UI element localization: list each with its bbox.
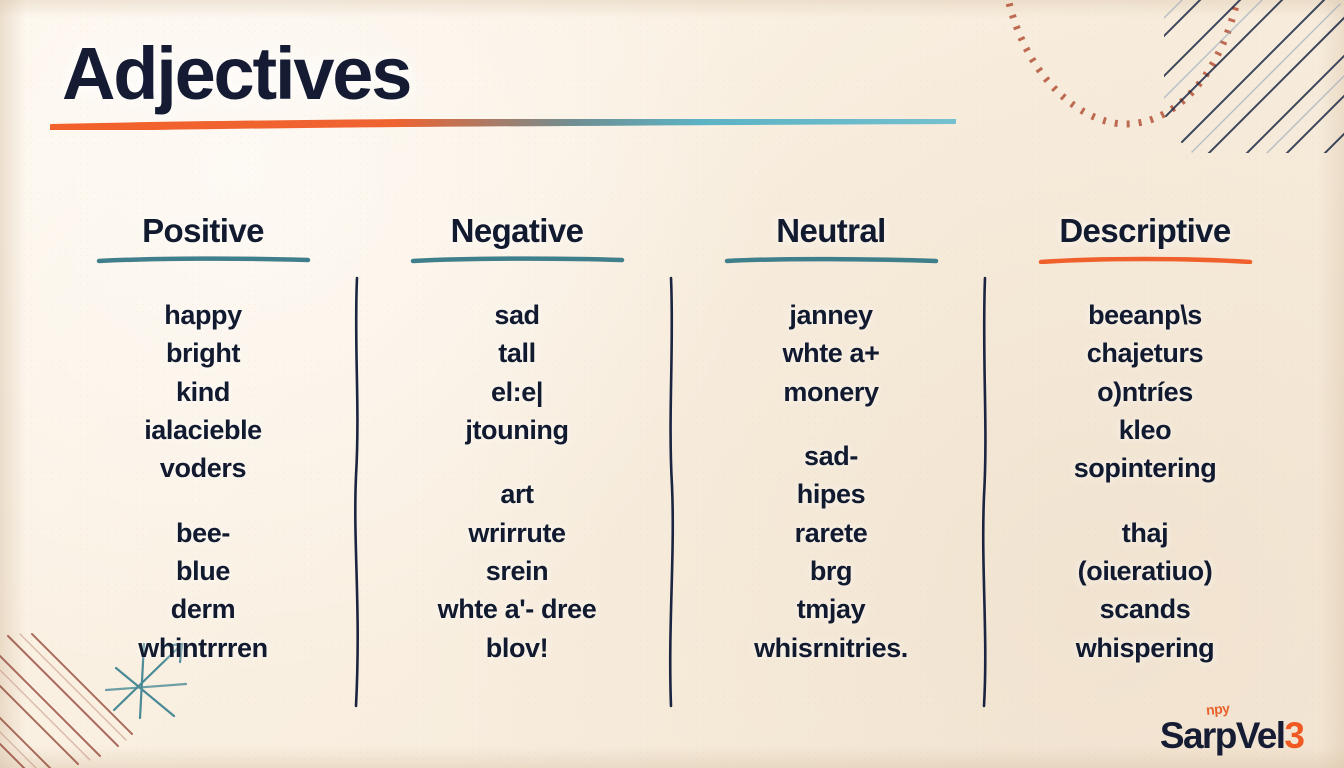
word-item: tmjay (797, 590, 866, 628)
column-descriptive: Descriptive beeanp\s chajeturs o)ntríes … (988, 212, 1302, 712)
word-item: bee- (176, 514, 230, 552)
column-underline-positive (96, 256, 311, 264)
column-header-neutral: Neutral (776, 212, 886, 250)
word-columns: Positive happy bright kind ialacieble vo… (46, 212, 1302, 712)
word-item: srein (486, 552, 549, 590)
word-item: thaj (1122, 514, 1168, 552)
logo-wordmark: SarpVel npy (1160, 717, 1285, 754)
word-item: whisrnitries. (754, 629, 908, 667)
word-item: tall (498, 334, 535, 372)
word-item: kleo (1119, 411, 1171, 449)
word-item: blue (176, 552, 230, 590)
column-underline-negative (410, 256, 625, 264)
word-item: scands (1100, 590, 1191, 628)
edge-shade-right (1318, 0, 1344, 768)
word-item: rarete (795, 514, 868, 552)
word-item: whte a'- dree (438, 590, 597, 628)
word-item: o)ntríes (1097, 373, 1193, 411)
word-list-positive: happy bright kind ialacieble voders bee-… (46, 296, 360, 667)
logo-digit: 3 (1284, 717, 1304, 754)
column-neutral: Neutral janney whte a+ monery sad- hipes… (674, 212, 988, 712)
title-underline (50, 119, 956, 130)
word-item: chajeturs (1087, 334, 1203, 372)
column-header-descriptive: Descriptive (1059, 212, 1230, 250)
word-list-neutral: janney whte a+ monery sad- hipes rarete … (674, 296, 988, 667)
word-item: whispering (1076, 629, 1215, 667)
word-item: el:e| (491, 373, 543, 411)
word-item: whte a+ (783, 334, 880, 372)
edge-shade-top (0, 0, 1344, 18)
word-item: (oiɩeratiuo) (1078, 552, 1213, 590)
column-positive: Positive happy bright kind ialacieble vo… (46, 212, 360, 712)
dashed-arc-decoration (994, 0, 1254, 142)
edge-shade-bottom (0, 746, 1344, 768)
word-item: janney (789, 296, 872, 334)
diagonal-hatch-decoration-topright (1164, 0, 1344, 153)
column-underline-descriptive (1038, 256, 1253, 264)
logo-superscript: npy (1205, 701, 1230, 717)
word-item: sad- (804, 437, 858, 475)
word-item: happy (164, 296, 242, 334)
word-item: blov! (486, 629, 549, 667)
word-item: beeanp\s (1088, 296, 1202, 334)
word-item: monery (783, 373, 878, 411)
column-header-negative: Negative (451, 212, 584, 250)
word-item: hipes (797, 475, 866, 513)
word-list-negative: sad tall el:e| jtouning art wrirrute sre… (360, 296, 674, 667)
word-item: art (500, 475, 533, 513)
word-item: whintrrren (138, 629, 268, 667)
word-item: sad (494, 296, 539, 334)
edge-shade-left (0, 0, 26, 768)
word-item: voders (160, 449, 246, 487)
logo-wordmark-text: SarpVel (1160, 715, 1285, 756)
word-item: ialacieble (144, 411, 262, 449)
brand-logo: SarpVel npy 3 (1160, 702, 1304, 754)
word-item: jtouning (465, 411, 568, 449)
page-title: Adjectives (62, 36, 982, 111)
word-item: brg (810, 552, 852, 590)
column-negative: Negative sad tall el:e| jtouning art wri… (360, 212, 674, 712)
column-underline-neutral (724, 256, 939, 264)
word-list-descriptive: beeanp\s chajeturs o)ntríes kleo sopinte… (988, 296, 1302, 667)
word-item: bright (166, 334, 240, 372)
word-item: kind (176, 373, 230, 411)
column-header-positive: Positive (142, 212, 264, 250)
word-item: wrirrute (468, 514, 565, 552)
word-item: sopintering (1074, 449, 1217, 487)
title-block: Adjectives (62, 36, 982, 135)
word-item: derm (171, 590, 235, 628)
